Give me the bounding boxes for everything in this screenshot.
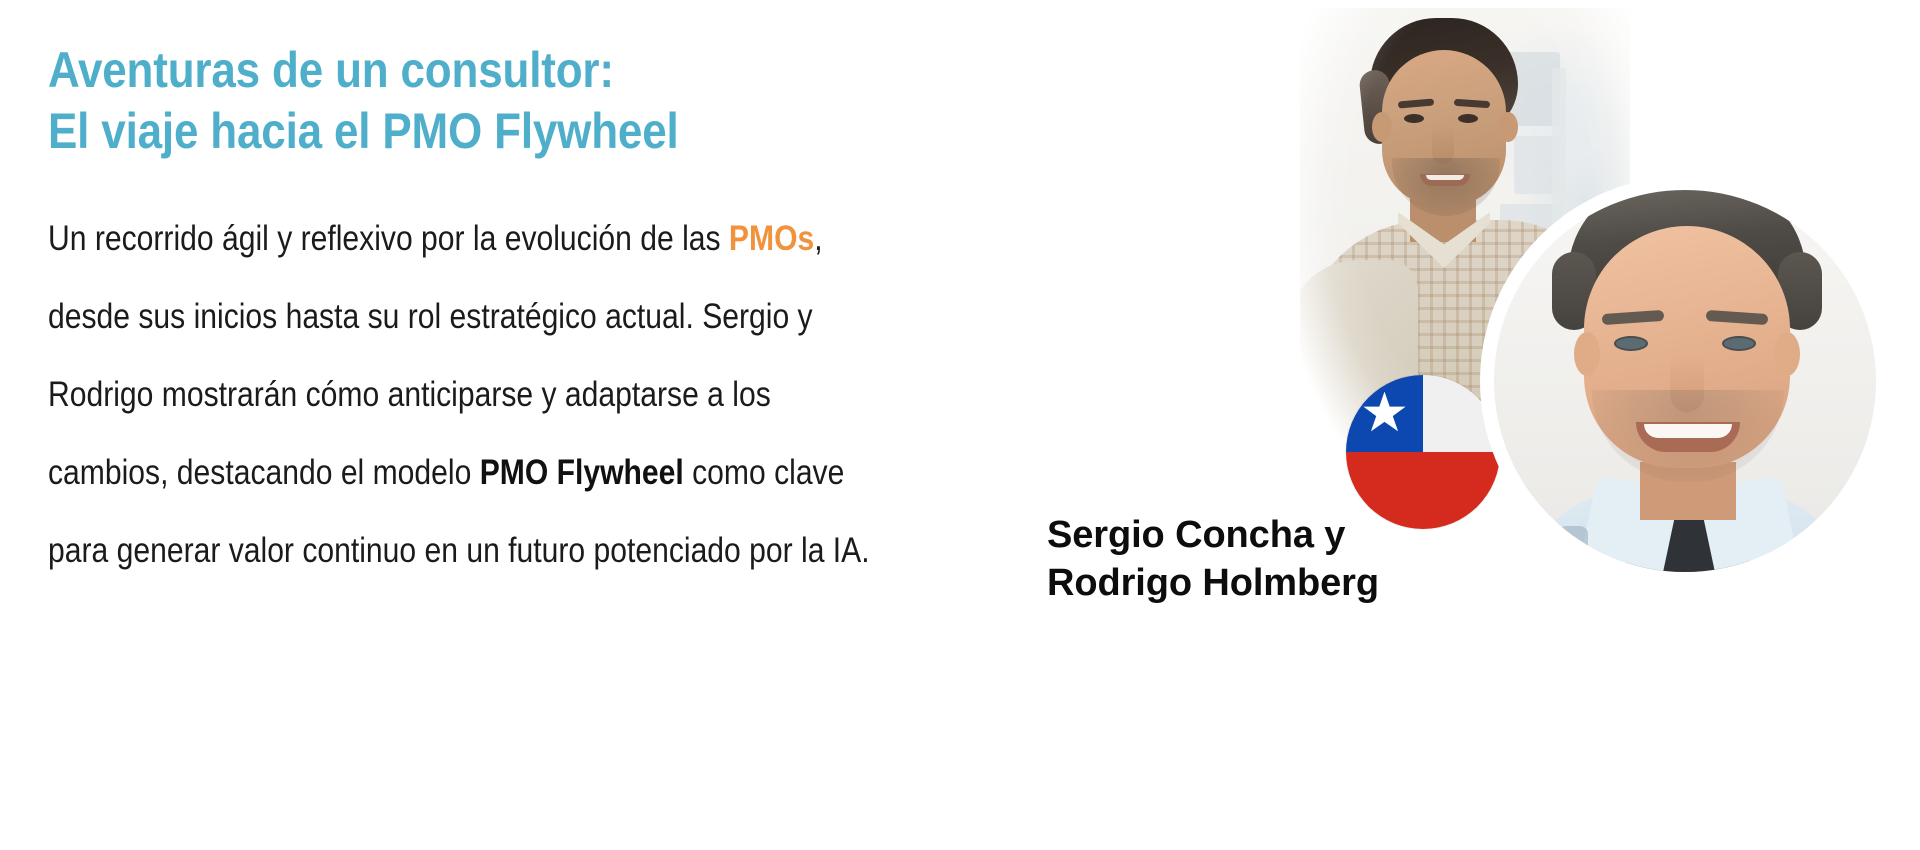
pmos-highlight: PMOs: [729, 219, 814, 258]
portrait-front-clip: [1494, 190, 1876, 572]
description-line-2: desde sus inicios hasta su rol estratégi…: [48, 278, 1106, 356]
page-title: Aventuras de un consultor: El viaje haci…: [48, 40, 1086, 162]
pmo-flywheel-highlight: PMO Flywheel: [480, 453, 684, 492]
portrait-front-eye-left: [1614, 336, 1648, 351]
portrait-front-ear-right: [1774, 332, 1800, 376]
promo-banner: Aventuras de un consultor: El viaje haci…: [0, 0, 1920, 850]
headline-line-2: El viaje hacia el PMO Flywheel: [48, 101, 1086, 162]
portrait-front-pocket: [1558, 526, 1588, 572]
portrait-back-mouth: [1420, 174, 1470, 186]
speaker-photo-cluster: [1290, 0, 1920, 850]
description-line-5: para generar valor continuo en un futuro…: [48, 512, 1106, 590]
description-paragraph: Un recorrido ágil y reflexivo por la evo…: [48, 200, 1106, 590]
description-line-1: Un recorrido ágil y reflexivo por la evo…: [48, 200, 1106, 278]
description-line-3: Rodrigo mostrarán cómo anticiparse y ada…: [48, 356, 1106, 434]
speaker-name-line-2: Rodrigo Holmberg: [1047, 560, 1379, 608]
portrait-front-teeth: [1644, 424, 1732, 438]
portrait-back-eye-right: [1458, 114, 1478, 123]
description-line-4: cambios, destacando el modelo PMO Flywhe…: [48, 434, 1106, 512]
description-line-4-text-b: como clave: [684, 453, 845, 492]
portrait-back-ear-right: [1498, 112, 1518, 142]
portrait-back-eye-left: [1404, 114, 1424, 123]
portrait-photo-front: [1494, 190, 1876, 572]
description-line-1-comma: ,: [814, 219, 822, 258]
chile-flag-icon: [1346, 375, 1500, 529]
portrait-back-ear-left: [1372, 112, 1392, 142]
portrait-front-mouth: [1636, 422, 1740, 452]
speaker-names: Sergio Concha y Rodrigo Holmberg: [1047, 512, 1379, 608]
description-line-4-text-a: cambios, destacando el modelo: [48, 453, 480, 492]
portrait-front-eye-right: [1722, 336, 1756, 351]
portrait-front-ear-left: [1574, 332, 1600, 376]
headline-line-1: Aventuras de un consultor:: [48, 40, 1086, 101]
background-shelf-post: [1552, 68, 1566, 238]
speaker-name-line-1: Sergio Concha y: [1047, 512, 1379, 560]
description-line-1-text: Un recorrido ágil y reflexivo por la evo…: [48, 219, 729, 258]
text-column: Aventuras de un consultor: El viaje haci…: [48, 40, 1228, 590]
